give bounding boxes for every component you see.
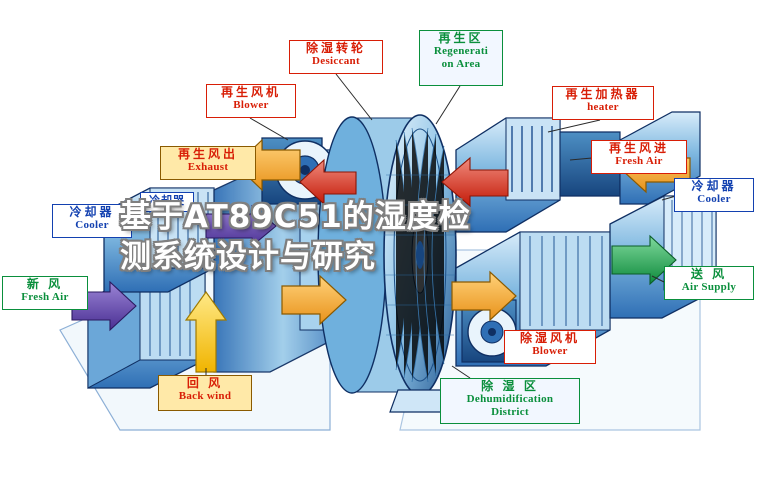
label-back-wind: 回 风 Back wind [158,375,252,411]
label-regen-heater: 再生加热器 heater [552,86,654,120]
label-cooler-right-cn: 冷却器 [679,180,749,193]
label-regen-fresh-air-cn: 再生风进 [596,142,682,155]
label-regen-exhaust: 再生风出 Exhaust [160,146,256,180]
label-desiccant-cn: 除湿转轮 [294,42,378,55]
label-air-supply-en: Air Supply [669,281,749,293]
label-dehum-district-cn: 除 湿 区 [445,380,575,393]
label-dehum-blower-cn: 除湿风机 [509,332,591,345]
label-dehum-blower: 除湿风机 Blower [504,330,596,364]
label-dehum-blower-en: Blower [509,345,591,357]
label-regen-heater-en: heater [557,101,649,113]
diagram-canvas: 除湿转轮 Desiccant 再生区 Regenerati on Area 再生… [0,0,757,488]
label-regen-heater-cn: 再生加热器 [557,88,649,101]
label-cooler-upper: 冷却哭 [140,192,194,212]
label-regen-blower-en: Blower [211,99,291,111]
label-regen-fresh-air-en: Fresh Air [596,155,682,167]
label-fresh-air: 新 风 Fresh Air [2,276,88,310]
label-regen-exhaust-en: Exhaust [165,161,251,173]
label-regen-fresh-air: 再生风进 Fresh Air [591,140,687,174]
label-regeneration-area-en: Regenerati on Area [424,45,498,70]
desiccant-rotor [318,115,456,412]
label-back-wind-en: Back wind [163,390,247,402]
label-cooler-upper-cn: 冷却哭 [145,195,189,207]
label-dehum-district-en: Dehumidification District [445,393,575,418]
label-cooler-right: 冷却器 Cooler [674,178,754,212]
label-back-wind-cn: 回 风 [163,377,247,390]
label-cooler-left-cn: 冷却器 [57,206,127,219]
label-desiccant: 除湿转轮 Desiccant [289,40,383,74]
label-fresh-air-cn: 新 风 [7,278,83,291]
label-regeneration-area-cn: 再生区 [424,32,498,45]
label-regen-exhaust-cn: 再生风出 [165,148,251,161]
label-dehum-district: 除 湿 区 Dehumidification District [440,378,580,424]
label-fresh-air-en: Fresh Air [7,291,83,303]
label-desiccant-en: Desiccant [294,55,378,67]
label-cooler-left: 冷却器 Cooler [52,204,132,238]
label-regen-blower: 再生风机 Blower [206,84,296,118]
label-air-supply: 送 风 Air Supply [664,266,754,300]
label-regen-blower-cn: 再生风机 [211,86,291,99]
label-cooler-right-en: Cooler [679,193,749,205]
label-regeneration-area: 再生区 Regenerati on Area [419,30,503,86]
label-cooler-left-en: Cooler [57,219,127,231]
label-air-supply-cn: 送 风 [669,268,749,281]
